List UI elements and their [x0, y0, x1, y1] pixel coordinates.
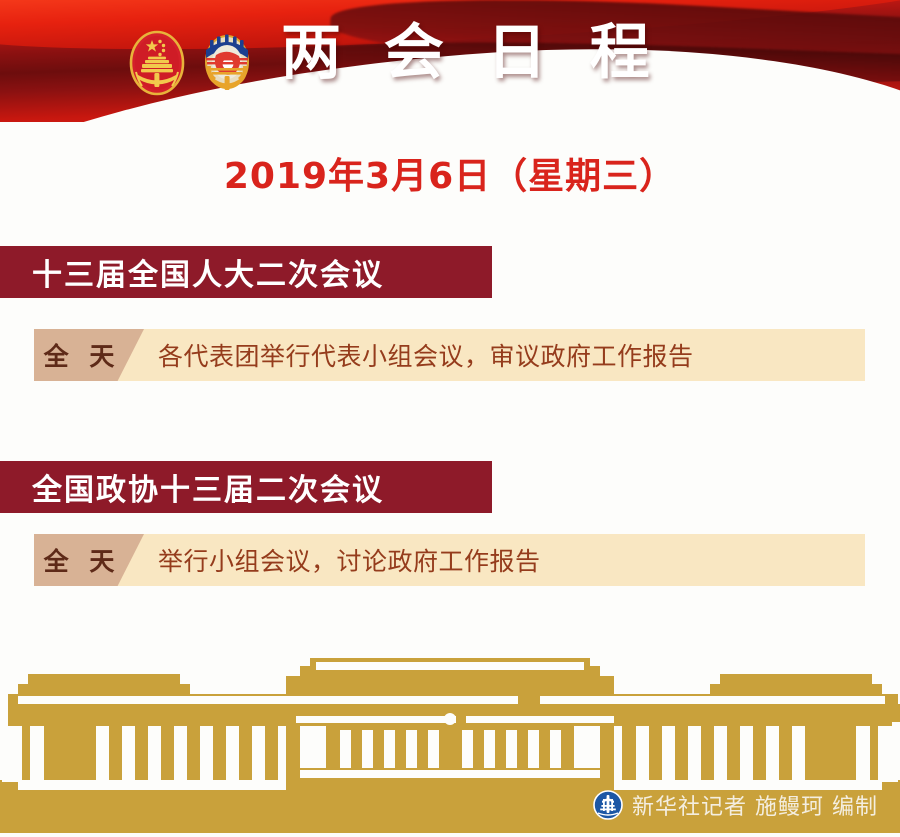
emblem-group: [128, 28, 256, 98]
page-date: 2019年3月6日（星期三）: [0, 147, 900, 199]
xinhua-news-agency-logo-icon: [593, 790, 623, 820]
schedule-row: 全 天 举行小组会议，讨论政府工作报告: [34, 534, 865, 586]
section-header-cppcc: 全国政协十三届二次会议: [0, 461, 492, 513]
row-time-tag: 全 天: [34, 534, 144, 586]
schedule-row: 全 天 各代表团举行代表小组会议，审议政府工作报告: [34, 329, 865, 381]
credit-line: 新华社记者 施鳗珂 编制: [593, 789, 878, 821]
row-description: 举行小组会议，讨论政府工作报告: [158, 542, 541, 578]
row-time-label: 全 天: [44, 542, 121, 578]
cppcc-emblem-icon: [198, 28, 256, 98]
section-title: 十三届全国人大二次会议: [32, 250, 384, 294]
row-time-label: 全 天: [44, 337, 121, 373]
row-time-tag: 全 天: [34, 329, 144, 381]
section-title: 全国政协十三届二次会议: [32, 465, 384, 509]
prc-national-emblem-icon: [128, 28, 186, 98]
row-description: 各代表团举行代表小组会议，审议政府工作报告: [158, 337, 694, 373]
banner-title: 两 会 日 程: [281, 18, 661, 88]
section-header-npc: 十三届全国人大二次会议: [0, 246, 492, 298]
credit-text: 新华社记者 施鳗珂 编制: [632, 789, 878, 821]
